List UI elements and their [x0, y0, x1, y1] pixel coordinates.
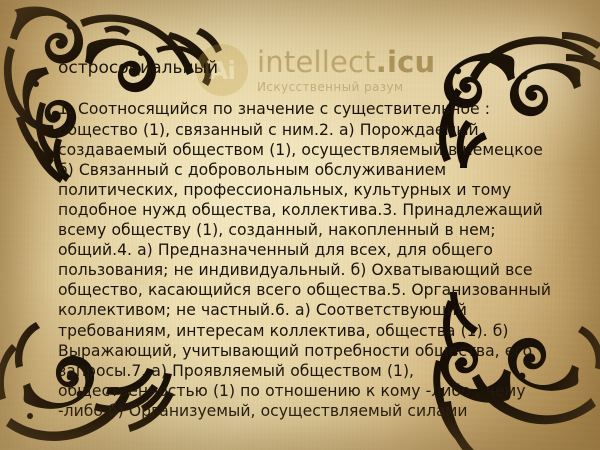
dictionary-entry: остросоциальный 1. Соотносящийся по знач…: [58, 58, 554, 421]
parchment-page: Ai intellect.icu Искусственный разум ост…: [0, 0, 600, 450]
entry-definition-text: 1. Соотносящийся по значение с существит…: [58, 99, 554, 421]
entry-headword: остросоциальный: [58, 58, 554, 78]
